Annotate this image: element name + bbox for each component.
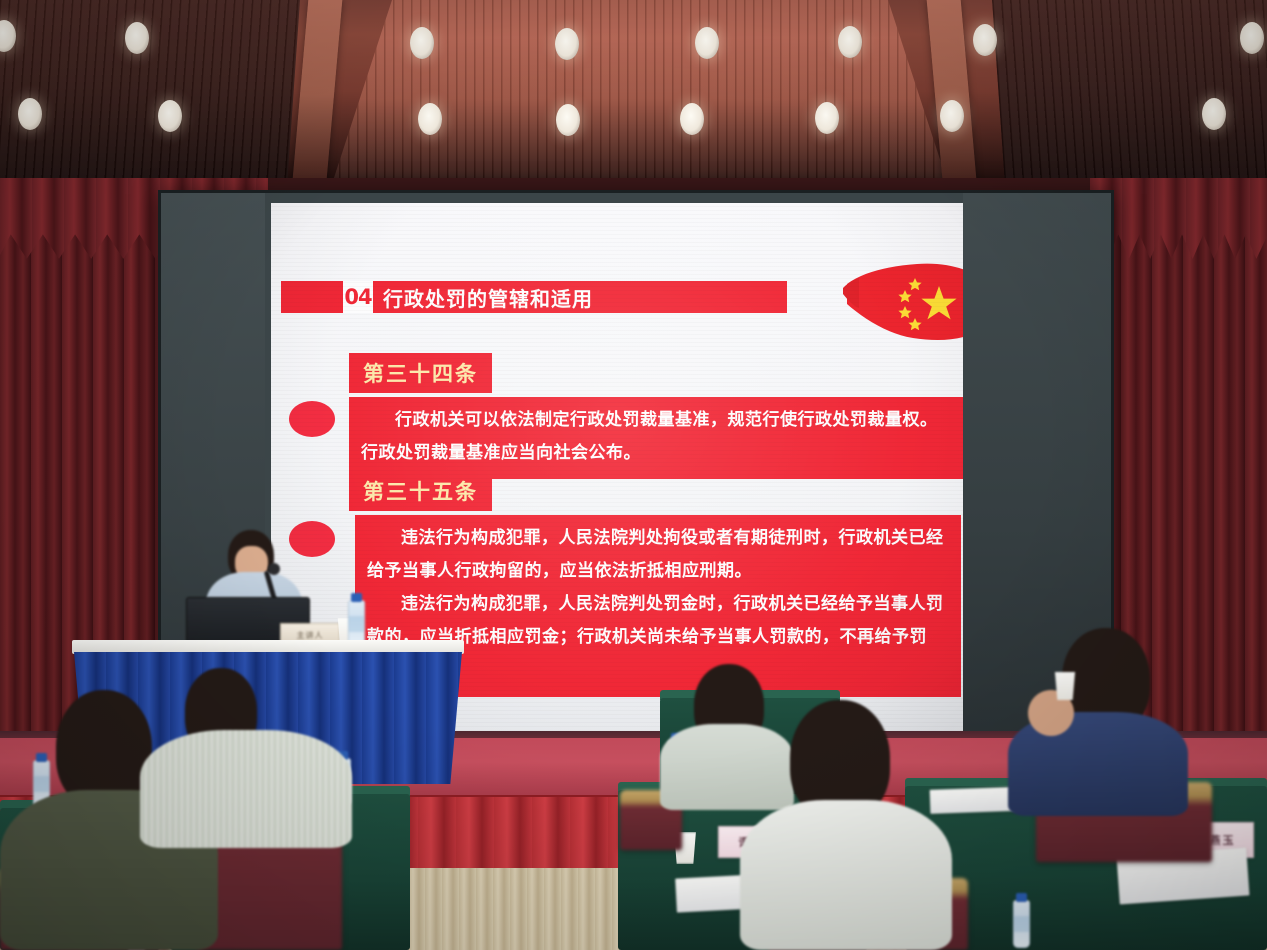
article-tag-35: 第三十五条 (349, 471, 492, 511)
downlight-icon (838, 26, 862, 58)
downlight-icon (940, 100, 964, 132)
article-tag-34: 第三十四条 (349, 353, 492, 393)
chinese-flag-icon (843, 258, 963, 348)
downlight-icon (695, 27, 719, 59)
downlight-icon (418, 103, 442, 135)
microphone-head-icon (268, 563, 280, 575)
bullet-dot-icon (289, 521, 335, 557)
header-accent-block (281, 281, 343, 313)
section-title: 行政处罚的管辖和适用 (373, 281, 787, 313)
conference-room-photo: 04 行政处罚的管辖和适用 第三十四条 行政机关可以依法制定行政处罚裁量基准，规… (0, 0, 1267, 950)
ceiling-panel-left (0, 0, 300, 190)
ceiling (0, 0, 1267, 190)
downlight-icon (410, 27, 434, 59)
attendee-torso (740, 800, 952, 950)
attendee-torso (140, 730, 352, 848)
article-body-34: 行政机关可以依法制定行政处罚裁量基准，规范行使行政处罚裁量权。行政处罚裁量基准应… (349, 397, 963, 479)
bullet-dot-icon (289, 401, 335, 437)
ceiling-beam-left (292, 0, 343, 190)
downlight-icon (815, 102, 839, 134)
downlight-icon (18, 98, 42, 130)
downlight-icon (973, 24, 997, 56)
ceiling-panel-right (992, 0, 1267, 190)
downlight-icon (556, 104, 580, 136)
downlight-icon (125, 22, 149, 54)
downlight-icon (1202, 98, 1226, 130)
downlight-icon (680, 103, 704, 135)
downlight-icon (555, 28, 579, 60)
downlight-icon (158, 100, 182, 132)
water-bottle (1013, 900, 1030, 948)
downlight-icon (1240, 22, 1264, 54)
section-number: 04 (343, 281, 373, 313)
article-34-paragraph: 行政机关可以依法制定行政处罚裁量基准，规范行使行政处罚裁量权。行政处罚裁量基准应… (361, 404, 949, 470)
attendee-torso (660, 724, 794, 810)
head-table-surface (72, 640, 464, 654)
slide-section-header: 04 行政处罚的管辖和适用 (281, 281, 787, 313)
article-35-paragraph-1: 违法行为构成犯罪，人民法院判处拘役或者有期徒刑时，行政机关已经给予当事人行政拘留… (367, 522, 947, 588)
